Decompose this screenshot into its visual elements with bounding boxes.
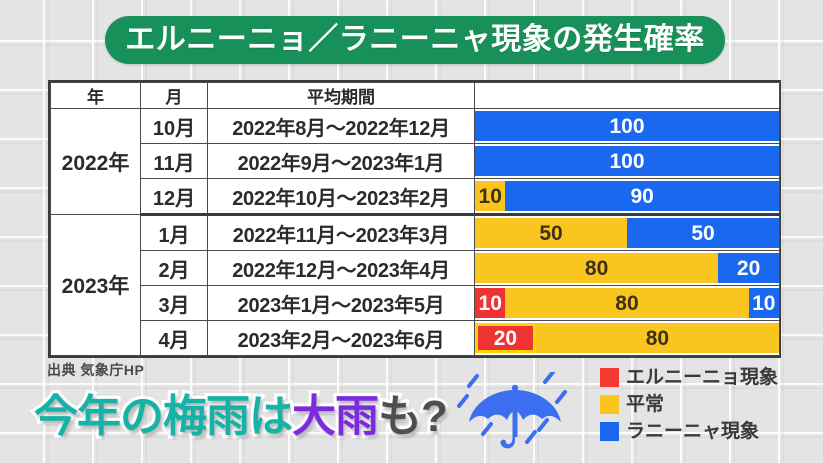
- cell-probability-bar: 108010: [475, 286, 780, 321]
- table-row: 11月2022年9月～2023年1月100: [51, 144, 780, 179]
- source-note: 出典 気象庁HP: [47, 360, 144, 380]
- bar-segment-lanina: 100: [475, 146, 779, 176]
- banner-part-2: 大雨: [292, 392, 378, 441]
- table-row: 2022年10月2022年8月～2022年12月100: [51, 109, 780, 144]
- cell-probability-bar: 100: [475, 109, 780, 144]
- cell-period: 2023年1月～2023年5月: [208, 286, 475, 321]
- banner-part-1: 今年の梅雨は: [34, 392, 292, 441]
- cell-month: 10月: [141, 109, 208, 144]
- stacked-bar: 8020: [475, 253, 779, 283]
- stacked-bar: 100: [475, 111, 779, 141]
- banner-headline: 今年の梅雨は大雨も?: [34, 395, 447, 439]
- bar-segment-lanina: 90: [505, 181, 779, 211]
- table-row: 3月2023年1月～2023年5月108010: [51, 286, 780, 321]
- bar-segment-elnino: 20: [475, 323, 536, 353]
- table-body: 2022年10月2022年8月～2022年12月10011月2022年9月～20…: [51, 109, 780, 356]
- stacked-bar: 5050: [475, 218, 779, 248]
- stacked-bar: 1090: [475, 181, 779, 211]
- cell-year: 2022年: [51, 109, 141, 215]
- cell-probability-bar: 100: [475, 144, 780, 179]
- table-header-row: 年 月 平均期間: [51, 83, 780, 109]
- stacked-bar: 2080: [475, 323, 779, 353]
- table-row: 4月2023年2月～2023年6月2080: [51, 321, 780, 356]
- table-row: 2月2022年12月～2023年4月8020: [51, 251, 780, 286]
- column-header-year: 年: [51, 83, 141, 109]
- bar-segment-normal: 10: [475, 181, 505, 211]
- column-header-bar: [475, 83, 780, 109]
- bar-segment-lanina: 20: [718, 253, 779, 283]
- bottom-banner: 今年の梅雨は大雨も?: [0, 383, 823, 463]
- bar-segment-normal: 50: [475, 218, 627, 248]
- table-row: 12月2022年10月～2023年2月1090: [51, 179, 780, 215]
- cell-period: 2023年2月～2023年6月: [208, 321, 475, 356]
- probability-table-grid: 年 月 平均期間 2022年10月2022年8月～2022年12月10011月2…: [50, 82, 780, 356]
- cell-probability-bar: 8020: [475, 251, 780, 286]
- bar-segment-lanina: 50: [627, 218, 779, 248]
- column-header-period: 平均期間: [208, 83, 475, 109]
- cell-period: 2022年11月～2023年3月: [208, 215, 475, 251]
- banner-part-3: も?: [378, 392, 447, 441]
- cell-month: 12月: [141, 179, 208, 215]
- stacked-bar: 100: [475, 146, 779, 176]
- stacked-bar: 108010: [475, 288, 779, 318]
- cell-probability-bar: 1090: [475, 179, 780, 215]
- cell-period: 2022年10月～2023年2月: [208, 179, 475, 215]
- probability-table: 年 月 平均期間 2022年10月2022年8月～2022年12月10011月2…: [48, 80, 781, 358]
- table-header: 年 月 平均期間: [51, 83, 780, 109]
- title-banner: エルニーニョ／ラニーニャ現象の発生確率: [105, 16, 725, 64]
- bar-segment-lanina: 10: [749, 288, 779, 318]
- bar-segment-normal: 80: [505, 288, 748, 318]
- cell-month: 4月: [141, 321, 208, 356]
- cell-period: 2022年9月～2023年1月: [208, 144, 475, 179]
- broadcast-graphic-stage: エルニーニョ／ラニーニャ現象の発生確率 年 月 平均期間 2022年10月202…: [0, 0, 823, 463]
- bar-segment-lanina: 100: [475, 111, 779, 141]
- cell-month: 3月: [141, 286, 208, 321]
- cell-period: 2022年12月～2023年4月: [208, 251, 475, 286]
- cell-month: 1月: [141, 215, 208, 251]
- cell-month: 11月: [141, 144, 208, 179]
- bar-segment-normal: 80: [536, 323, 779, 353]
- cell-probability-bar: 5050: [475, 215, 780, 251]
- cell-period: 2022年8月～2022年12月: [208, 109, 475, 144]
- table-row: 2023年1月2022年11月～2023年3月5050: [51, 215, 780, 251]
- cell-year: 2023年: [51, 215, 141, 356]
- page-title: エルニーニョ／ラニーニャ現象の発生確率: [125, 25, 705, 55]
- cell-month: 2月: [141, 251, 208, 286]
- bar-segment-normal: 80: [475, 253, 718, 283]
- bar-segment-elnino: 10: [475, 288, 505, 318]
- cell-probability-bar: 2080: [475, 321, 780, 356]
- column-header-month: 月: [141, 83, 208, 109]
